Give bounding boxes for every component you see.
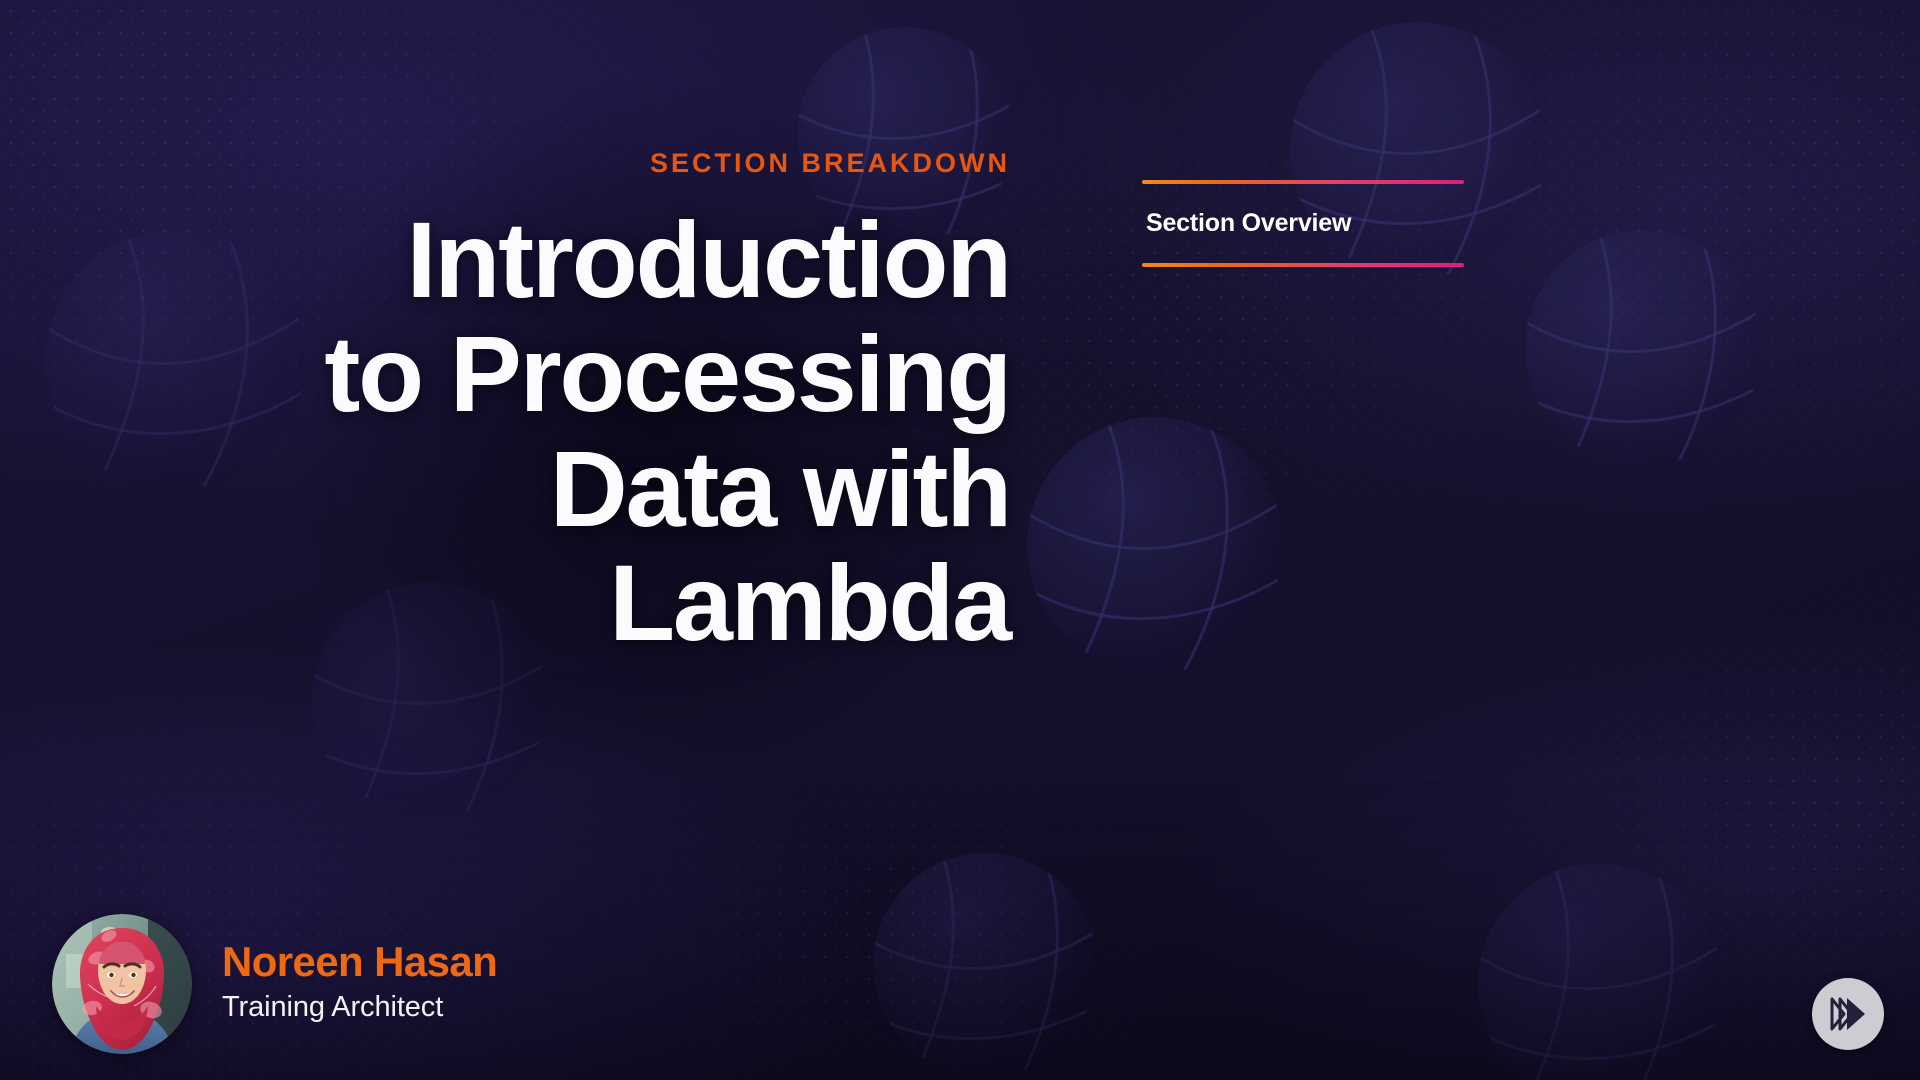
- section-overview-label: Section Overview: [1142, 184, 1472, 263]
- section-eyebrow-label: SECTION BREAKDOWN: [180, 150, 1010, 177]
- brand-badge[interactable]: [1812, 978, 1884, 1050]
- presenter-details: Noreen Hasan Training Architect: [222, 940, 497, 1028]
- presenter-name: Noreen Hasan: [222, 940, 497, 984]
- title-line: Introduction: [180, 203, 1010, 317]
- presentation-slide: SECTION BREAKDOWN Introduction to Proces…: [0, 0, 1920, 1080]
- presenter-block: Noreen Hasan Training Architect: [52, 914, 497, 1054]
- presenter-role: Training Architect: [222, 992, 497, 1024]
- title-line: to Processing: [180, 317, 1010, 431]
- double-play-logo-icon: [1826, 994, 1870, 1034]
- section-overview-panel: Section Overview: [1142, 180, 1472, 267]
- headline-block: SECTION BREAKDOWN Introduction to Proces…: [180, 150, 1010, 661]
- title-line: Data with: [180, 432, 1010, 546]
- avatar: [52, 914, 192, 1054]
- title-line: Lambda: [180, 546, 1010, 660]
- gradient-divider-bottom: [1142, 263, 1464, 267]
- page-title: Introduction to Processing Data with Lam…: [180, 203, 1010, 661]
